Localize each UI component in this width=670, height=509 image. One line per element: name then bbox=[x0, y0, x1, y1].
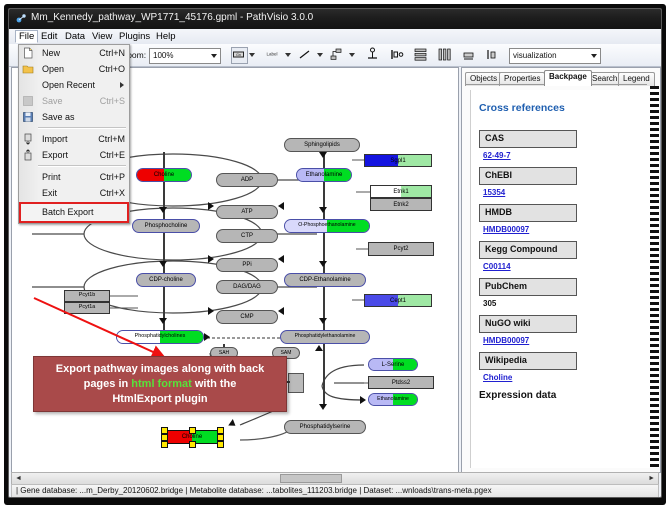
selection-handle[interactable] bbox=[217, 441, 224, 448]
menu-item-accel: Ctrl+N bbox=[99, 48, 125, 58]
svg-text:Gn: Gn bbox=[236, 53, 241, 57]
pathway-node-ctp[interactable]: CTP bbox=[216, 229, 278, 243]
cross-references-heading: Cross references bbox=[479, 102, 565, 114]
submenu-arrow-icon bbox=[120, 82, 124, 88]
folder-open-icon bbox=[22, 63, 34, 75]
arrow-etn-to-pethn bbox=[319, 207, 327, 213]
pathway-node-o-phosphoethanolamine[interactable]: O-Phosphoethanolamine bbox=[284, 219, 370, 233]
pathway-node-cmp[interactable]: CMP bbox=[216, 310, 278, 324]
menu-item-new[interactable]: New Ctrl+N bbox=[19, 45, 129, 61]
xref-source-nugo: NuGO wiki bbox=[479, 315, 577, 333]
node-label: CDP-Ethanolamine bbox=[299, 277, 350, 283]
arrow-pc-methylation bbox=[204, 333, 210, 341]
menu-bar: File Edit Data View Plugins Help bbox=[9, 29, 661, 45]
scroll-left-icon[interactable]: ◄ bbox=[15, 475, 22, 482]
pathvisio-window: Mm_Kennedy_pathway_WP1771_45176.gpml - P… bbox=[8, 8, 662, 498]
node-label: Sphingolipids bbox=[304, 142, 340, 148]
distribute-horizontal-button[interactable] bbox=[437, 47, 452, 62]
datanode-tool-button[interactable]: Gn bbox=[231, 47, 248, 64]
arrow-to-cmp-left bbox=[208, 307, 214, 315]
arrow-to-atp-right bbox=[278, 202, 284, 210]
menu-plugins[interactable]: Plugins bbox=[115, 30, 154, 43]
connector-node[interactable] bbox=[288, 373, 304, 393]
window-title: Mm_Kennedy_pathway_WP1771_45176.gpml - P… bbox=[31, 12, 313, 23]
node-label: Etnk2 bbox=[393, 202, 408, 208]
menu-item-accel: Ctrl+M bbox=[98, 134, 125, 144]
node-label: Choline bbox=[154, 172, 174, 178]
same-height-button[interactable] bbox=[485, 47, 500, 62]
node-label: ADP bbox=[241, 177, 253, 183]
scrollbar-thumb[interactable] bbox=[280, 474, 342, 483]
export-icon bbox=[22, 149, 34, 161]
node-label: Choline bbox=[182, 434, 202, 440]
status-bar: | Gene database: ...m_Derby_20120602.bri… bbox=[11, 484, 659, 498]
selection-handle[interactable] bbox=[217, 434, 224, 441]
xref-value-chebi[interactable]: 15354 bbox=[483, 188, 505, 197]
menu-item-accel: Ctrl+S bbox=[100, 96, 125, 106]
side-panel: Objects Properties Backpage Search Legen… bbox=[461, 67, 661, 473]
selection-handle[interactable] bbox=[161, 427, 168, 434]
menu-item-exit[interactable]: Exit Ctrl+X bbox=[19, 185, 129, 201]
pathway-node-phosphocholine[interactable]: Phosphocholine bbox=[132, 219, 200, 233]
callout-line2-pre: pages in bbox=[84, 378, 132, 390]
menu-help[interactable]: Help bbox=[152, 30, 180, 43]
menu-item-save: Save Ctrl+S bbox=[19, 93, 129, 109]
xref-source-chebi: ChEBI bbox=[479, 167, 577, 185]
node-label: Pcyt2 bbox=[393, 246, 408, 252]
menu-item-label: New bbox=[42, 48, 60, 58]
xref-source-label: Wikipedia bbox=[485, 355, 527, 365]
arrow-sphingo-to-etn bbox=[319, 152, 327, 158]
callout-line2-post: with the bbox=[192, 378, 237, 390]
chevron-down-icon bbox=[591, 54, 597, 58]
menu-item-label: Open Recent bbox=[42, 80, 95, 90]
arrow-to-cmp-right bbox=[278, 307, 284, 315]
selection-handle[interactable] bbox=[189, 441, 196, 448]
pathway-node-adp[interactable]: ADP bbox=[216, 173, 278, 187]
node-label: SAM bbox=[281, 351, 292, 356]
line-tool-button[interactable] bbox=[297, 47, 312, 62]
node-label: CDP-choline bbox=[149, 277, 183, 283]
arrow-to-ethanolamine-bottom bbox=[360, 396, 366, 404]
scroll-right-icon[interactable]: ► bbox=[648, 475, 655, 482]
selection-handle[interactable] bbox=[217, 427, 224, 434]
pathway-node-phosphatidylserine[interactable]: Phosphatidylserine bbox=[284, 420, 366, 434]
menu-data[interactable]: Data bbox=[61, 30, 89, 43]
pathway-node-sgpl1[interactable]: Sgpl1 bbox=[364, 154, 432, 167]
pathway-node-atp[interactable]: ATP bbox=[216, 205, 278, 219]
save-icon bbox=[22, 95, 34, 107]
menu-item-save-as[interactable]: Save as bbox=[19, 109, 129, 125]
new-file-icon bbox=[22, 47, 34, 59]
tab-backpage[interactable]: Backpage bbox=[544, 70, 592, 86]
pathway-node-cept1[interactable]: Cept1 bbox=[364, 294, 432, 307]
same-width-button[interactable] bbox=[461, 47, 476, 62]
annotation-callout: Export pathway images along with back pa… bbox=[33, 356, 287, 412]
edge-pe-down bbox=[323, 344, 325, 404]
menu-item-label: Import bbox=[42, 134, 68, 144]
node-label: Ptdss2 bbox=[392, 380, 410, 386]
xref-value-hmdb[interactable]: HMDB00097 bbox=[483, 225, 529, 234]
xref-value-kegg[interactable]: C00114 bbox=[483, 262, 511, 271]
datanode-dropdown-icon[interactable] bbox=[249, 53, 255, 57]
xref-value-pubchem: 305 bbox=[483, 299, 496, 308]
arrow-to-atp-left bbox=[208, 202, 214, 210]
xref-source-label: CAS bbox=[485, 133, 504, 143]
menu-item-label: Save as bbox=[42, 112, 75, 122]
pathway-node-dag[interactable]: DAG/DAG bbox=[216, 280, 278, 294]
pathway-node-ptdss2[interactable]: Ptdss2 bbox=[368, 376, 434, 389]
menu-item-label: Exit bbox=[42, 188, 57, 198]
pathway-node-ppi[interactable]: PPi bbox=[216, 258, 278, 272]
menu-item-print[interactable]: Print Ctrl+P bbox=[19, 169, 129, 185]
menu-item-label: Print bbox=[42, 172, 61, 182]
node-label: DAG/DAG bbox=[233, 284, 261, 290]
line-dropdown-icon[interactable] bbox=[317, 53, 323, 57]
menu-item-open-recent[interactable]: Open Recent bbox=[19, 77, 129, 93]
menu-view[interactable]: View bbox=[88, 30, 116, 43]
node-label: Ethanolamine bbox=[306, 172, 343, 178]
xref-source-kegg: Kegg Compound bbox=[479, 241, 577, 259]
node-label: Phosphocholine bbox=[145, 223, 188, 229]
node-label: ATP bbox=[241, 209, 252, 215]
pathway-node-phosphatidylethanolamine[interactable]: Phosphatidylethanolamine bbox=[280, 330, 370, 344]
node-label: Sgpl1 bbox=[390, 158, 405, 164]
title-bar: Mm_Kennedy_pathway_WP1771_45176.gpml - P… bbox=[9, 9, 661, 30]
menu-item-label: Batch Export bbox=[42, 207, 94, 217]
selection-handle[interactable] bbox=[161, 434, 168, 441]
file-menu-popup[interactable]: New Ctrl+N Open Ctrl+O Open Recent Save … bbox=[18, 44, 130, 224]
xref-source-label: NuGO wiki bbox=[485, 318, 531, 328]
arrow-pcholine-to-cdp bbox=[159, 261, 167, 267]
node-label: Ethanolamine bbox=[377, 397, 409, 402]
node-label: CTP bbox=[241, 233, 253, 239]
xref-value-cas[interactable]: 62-49-7 bbox=[483, 151, 511, 160]
expression-data-heading: Expression data bbox=[479, 390, 556, 401]
distribute-vertical-button[interactable] bbox=[413, 47, 428, 62]
align-top-button[interactable] bbox=[365, 47, 380, 62]
desktop-background: Mm_Kennedy_pathway_WP1771_45176.gpml - P… bbox=[0, 0, 670, 509]
align-left-button[interactable] bbox=[389, 47, 404, 62]
menu-edit[interactable]: Edit bbox=[37, 30, 61, 43]
node-label: Phosphatidylethanolamine bbox=[295, 334, 356, 339]
node-label: PPi bbox=[242, 262, 251, 268]
arrow-pethn-to-cdpethn bbox=[319, 261, 327, 267]
node-label: Phosphatidylserine bbox=[300, 424, 351, 430]
node-label: L-Serine bbox=[382, 362, 405, 368]
xref-source-label: PubChem bbox=[485, 281, 527, 291]
arrow-choline-to-pcholine bbox=[159, 207, 167, 213]
annotation-callout-text: Export pathway images along with back pa… bbox=[50, 362, 270, 407]
menu-item-accel: Ctrl+X bbox=[100, 188, 125, 198]
arrow-to-ppi-left bbox=[208, 255, 214, 263]
xref-source-label: ChEBI bbox=[485, 170, 512, 180]
svg-text:Label: Label bbox=[266, 52, 277, 57]
pathway-node-choline-top[interactable]: Choline bbox=[136, 168, 192, 182]
xref-source-hmdb: HMDB bbox=[479, 204, 577, 222]
pathway-node-ethanolamine-bottom[interactable]: Ethanolamine bbox=[368, 393, 418, 406]
zoom-value: 100% bbox=[153, 51, 173, 60]
status-text: | Gene database: ...m_Derby_20120602.bri… bbox=[16, 486, 492, 495]
xref-source-cas: CAS bbox=[479, 130, 577, 148]
pathway-node-pcyt2[interactable]: Pcyt2 bbox=[368, 242, 434, 256]
label-dropdown-icon[interactable] bbox=[285, 53, 291, 57]
node-label: CMP bbox=[240, 314, 253, 320]
backpage-content: Cross references CAS 62-49-7 ChEBI 15354… bbox=[470, 90, 653, 468]
pathway-node-etnk2[interactable]: Etnk2 bbox=[370, 198, 432, 211]
save-as-icon bbox=[22, 111, 34, 123]
menu-file[interactable]: File bbox=[15, 30, 38, 43]
pathway-node-ethanolamine-top[interactable]: Ethanolamine bbox=[296, 168, 352, 182]
zoom-combo[interactable]: 100% bbox=[149, 48, 221, 64]
visualization-combo[interactable]: visualization bbox=[509, 48, 601, 64]
menu-item-import[interactable]: Import Ctrl+M bbox=[19, 131, 129, 147]
pathway-node-etnk1[interactable]: Etnk1 bbox=[370, 185, 432, 198]
xref-value-wikipedia[interactable]: Choline bbox=[483, 373, 512, 382]
pathway-node-cdp-choline[interactable]: CDP-choline bbox=[136, 273, 196, 287]
node-label: Cept1 bbox=[390, 298, 406, 304]
arrow-ps-to-pe bbox=[315, 345, 323, 351]
chevron-down-icon bbox=[211, 54, 217, 58]
xref-source-label: Kegg Compound bbox=[485, 244, 558, 254]
label-tool-button[interactable]: Label bbox=[261, 47, 283, 62]
menu-item-batch-export[interactable]: Batch Export bbox=[19, 202, 129, 223]
menu-item-accel: Ctrl+P bbox=[100, 172, 125, 182]
menu-item-label: Open bbox=[42, 64, 64, 74]
xref-value-nugo[interactable]: HMDB00097 bbox=[483, 336, 529, 345]
arrow-to-ppi-right bbox=[278, 255, 284, 263]
callout-line1: Export pathway images along with back bbox=[56, 363, 264, 375]
selection-handle[interactable] bbox=[161, 441, 168, 448]
interaction-dropdown-icon[interactable] bbox=[349, 53, 355, 57]
callout-line3: HtmlExport plugin bbox=[112, 393, 207, 405]
menu-item-accel: Ctrl+E bbox=[100, 150, 125, 160]
pathway-node-sphingolipids[interactable]: Sphingolipids bbox=[284, 138, 360, 152]
node-label: Etnk1 bbox=[393, 189, 408, 195]
node-label: SAH bbox=[219, 351, 229, 356]
side-panel-scrollbar[interactable] bbox=[650, 86, 659, 468]
xref-source-pubchem: PubChem bbox=[479, 278, 577, 296]
callout-line2-highlight: html format bbox=[131, 378, 192, 390]
pathway-node-l-serine[interactable]: L-Serine bbox=[368, 358, 418, 371]
edge-etn-vertical bbox=[323, 182, 325, 330]
menu-item-accel: Ctrl+O bbox=[99, 64, 125, 74]
menu-item-open[interactable]: Open Ctrl+O bbox=[19, 61, 129, 77]
arrow-pe-to-ps bbox=[319, 404, 327, 410]
node-label: O-Phosphoethanolamine bbox=[298, 223, 355, 228]
menu-item-label: Save bbox=[42, 96, 63, 106]
menu-item-export[interactable]: Export Ctrl+E bbox=[19, 147, 129, 163]
xref-source-label: HMDB bbox=[485, 207, 512, 217]
xref-source-wikipedia: Wikipedia bbox=[479, 352, 577, 370]
arrow-cdpethn-to-pe bbox=[319, 318, 327, 324]
pathway-node-cdp-ethanolamine[interactable]: CDP-Ethanolamine bbox=[284, 273, 366, 287]
menu-item-label: Export bbox=[42, 150, 68, 160]
visualization-value: visualization bbox=[513, 51, 557, 60]
pathvisio-app-icon bbox=[15, 13, 27, 25]
import-icon bbox=[22, 133, 34, 145]
selection-handle[interactable] bbox=[189, 427, 196, 434]
interaction-tool-button[interactable] bbox=[329, 47, 344, 62]
